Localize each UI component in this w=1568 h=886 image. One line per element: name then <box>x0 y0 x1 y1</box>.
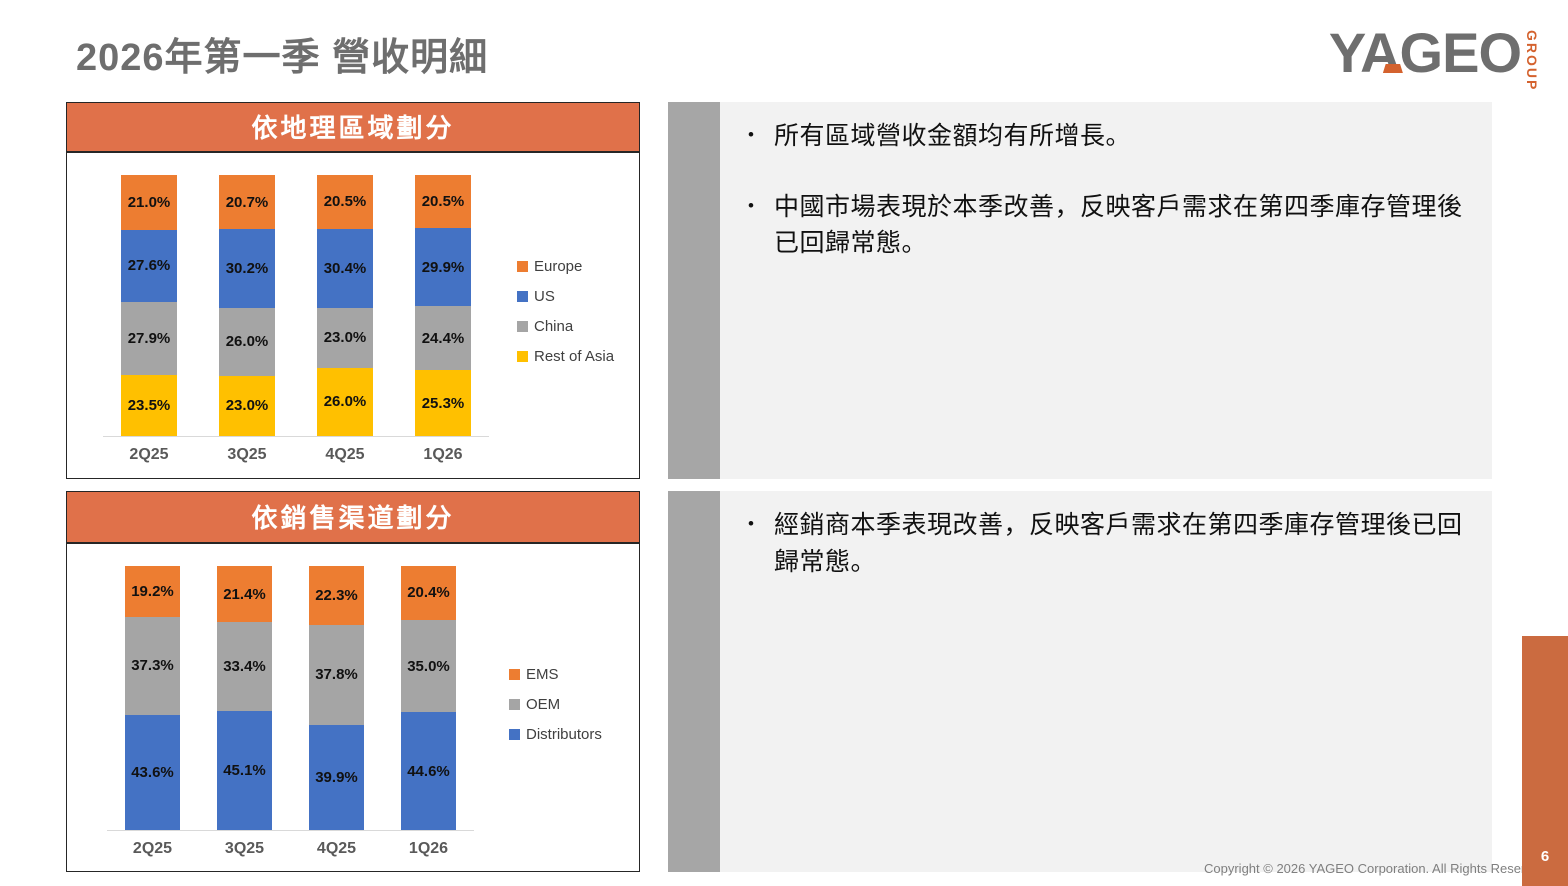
x-axis-label: 1Q26 <box>391 840 466 858</box>
logo-group-suffix: GROUP <box>1524 30 1540 91</box>
x-axis-label: 1Q26 <box>405 446 481 464</box>
bar-segment: 37.3% <box>125 617 180 715</box>
panel-accent-bar <box>668 491 720 872</box>
copyright-text: Copyright © 2026 YAGEO Corporation. All … <box>1204 861 1550 876</box>
bar-column: 20.5%29.9%24.4%25.3% <box>415 175 471 436</box>
chart-baseline <box>107 830 474 831</box>
bar-segment: 45.1% <box>217 711 272 830</box>
bar-segment: 30.2% <box>219 229 275 308</box>
slide: 2026年第一季 營收明細 YAGEO GROUP 依地理區域劃分 21.0%2… <box>0 0 1568 886</box>
logo-wordmark-text: YAGEO <box>1329 21 1521 84</box>
bar-segment: 37.8% <box>309 625 364 725</box>
bar-column: 21.0%27.6%27.9%23.5% <box>121 175 177 436</box>
bar-segment: 26.0% <box>219 308 275 376</box>
logo-wordmark: YAGEO <box>1329 24 1521 82</box>
legend-swatch-icon <box>517 261 528 272</box>
bar-segment: 23.0% <box>219 376 275 436</box>
x-axis-label: 3Q25 <box>209 446 285 464</box>
chart-card-geography: 依地理區域劃分 21.0%27.6%27.9%23.5%20.7%30.2%26… <box>66 102 640 479</box>
page-title: 2026年第一季 營收明細 <box>76 26 488 81</box>
bar-segment: 44.6% <box>401 712 456 830</box>
bar-column: 21.4%33.4%45.1% <box>217 566 272 830</box>
legend-swatch-icon <box>509 699 520 710</box>
legend-label: China <box>534 318 573 335</box>
panel-body-top: •所有區域營收金額均有所增長。•中國市場表現於本季改善，反映客戶需求在第四季庫存… <box>720 102 1492 479</box>
chart-plot-channel: 19.2%37.3%43.6%21.4%33.4%45.1%22.3%37.8%… <box>67 544 639 871</box>
bullet-text: 所有區域營收金額均有所增長。 <box>774 118 1131 155</box>
chart-header-geography: 依地理區域劃分 <box>67 103 639 153</box>
x-axis-label: 2Q25 <box>111 446 187 464</box>
bar-column: 20.7%30.2%26.0%23.0% <box>219 175 275 436</box>
bullet-item: •中國市場表現於本季改善，反映客戶需求在第四季庫存管理後已回歸常態。 <box>748 189 1470 262</box>
x-axis-label: 3Q25 <box>207 840 282 858</box>
bar-segment: 20.5% <box>415 175 471 228</box>
legend-label: US <box>534 288 555 305</box>
bar-segment: 26.0% <box>317 368 373 436</box>
bar-segment: 21.0% <box>121 175 177 230</box>
legend-label: Rest of Asia <box>534 348 614 365</box>
chart-baseline <box>103 436 489 437</box>
bullet-text: 經銷商本季表現改善，反映客戶需求在第四季庫存管理後已回歸常態。 <box>774 507 1470 580</box>
legend-label: Distributors <box>526 726 602 743</box>
bar-column: 22.3%37.8%39.9% <box>309 566 364 830</box>
legend-item: OEM <box>509 696 602 713</box>
bar-segment: 20.7% <box>219 175 275 229</box>
legend-swatch-icon <box>509 729 520 740</box>
bullet-dot-icon: • <box>748 189 774 262</box>
bar-segment: 35.0% <box>401 620 456 712</box>
chart-legend-geography: EuropeUSChinaRest of Asia <box>517 258 614 365</box>
x-axis-label: 4Q25 <box>299 840 374 858</box>
bar-segment: 33.4% <box>217 622 272 710</box>
bullet-item: •經銷商本季表現改善，反映客戶需求在第四季庫存管理後已回歸常態。 <box>748 507 1470 580</box>
page-number: 6 <box>1522 848 1568 865</box>
bar-column: 20.5%30.4%23.0%26.0% <box>317 175 373 436</box>
bar-segment: 20.5% <box>317 175 373 229</box>
bar-segment: 43.6% <box>125 715 180 830</box>
legend-item: EMS <box>509 666 602 683</box>
legend-swatch-icon <box>517 351 528 362</box>
legend-item: Rest of Asia <box>517 348 614 365</box>
bar-segment: 29.9% <box>415 228 471 306</box>
chart-card-channel: 依銷售渠道劃分 19.2%37.3%43.6%21.4%33.4%45.1%22… <box>66 491 640 872</box>
yageo-logo: YAGEO GROUP <box>1329 24 1540 86</box>
chart-plot-geography: 21.0%27.6%27.9%23.5%20.7%30.2%26.0%23.0%… <box>67 153 639 478</box>
legend-item: Distributors <box>509 726 602 743</box>
bar-segment: 23.5% <box>121 375 177 436</box>
chart-header-channel: 依銷售渠道劃分 <box>67 492 639 544</box>
bullet-dot-icon: • <box>748 507 774 580</box>
panel-body-bottom: •經銷商本季表現改善，反映客戶需求在第四季庫存管理後已回歸常態。 <box>720 491 1492 872</box>
bar-segment: 19.2% <box>125 566 180 617</box>
bar-segment: 21.4% <box>217 566 272 622</box>
bar-segment: 27.9% <box>121 302 177 375</box>
legend-item: Europe <box>517 258 614 275</box>
bullet-item: •所有區域營收金額均有所增長。 <box>748 118 1470 155</box>
legend-item: US <box>517 288 614 305</box>
legend-swatch-icon <box>509 669 520 680</box>
bar-segment: 23.0% <box>317 308 373 368</box>
logo-a-accent-icon <box>1383 64 1403 73</box>
legend-item: China <box>517 318 614 335</box>
bar-segment: 22.3% <box>309 566 364 625</box>
x-axis-label: 2Q25 <box>115 840 190 858</box>
legend-swatch-icon <box>517 321 528 332</box>
legend-swatch-icon <box>517 291 528 302</box>
panel-accent-bar <box>668 102 720 479</box>
bar-segment: 27.6% <box>121 230 177 302</box>
bar-segment: 30.4% <box>317 229 373 308</box>
bar-column: 20.4%35.0%44.6% <box>401 566 456 830</box>
legend-label: OEM <box>526 696 560 713</box>
bar-segment: 20.4% <box>401 566 456 620</box>
commentary-panel-top: •所有區域營收金額均有所增長。•中國市場表現於本季改善，反映客戶需求在第四季庫存… <box>668 102 1492 479</box>
commentary-panel-bottom: •經銷商本季表現改善，反映客戶需求在第四季庫存管理後已回歸常態。 <box>668 491 1492 872</box>
bar-column: 19.2%37.3%43.6% <box>125 566 180 830</box>
chart-legend-channel: EMSOEMDistributors <box>509 666 602 743</box>
legend-label: EMS <box>526 666 559 683</box>
bar-segment: 39.9% <box>309 725 364 830</box>
legend-label: Europe <box>534 258 582 275</box>
bar-segment: 25.3% <box>415 370 471 436</box>
bar-segment: 24.4% <box>415 306 471 370</box>
bullet-text: 中國市場表現於本季改善，反映客戶需求在第四季庫存管理後已回歸常態。 <box>774 189 1470 262</box>
x-axis-label: 4Q25 <box>307 446 383 464</box>
bullet-dot-icon: • <box>748 118 774 155</box>
